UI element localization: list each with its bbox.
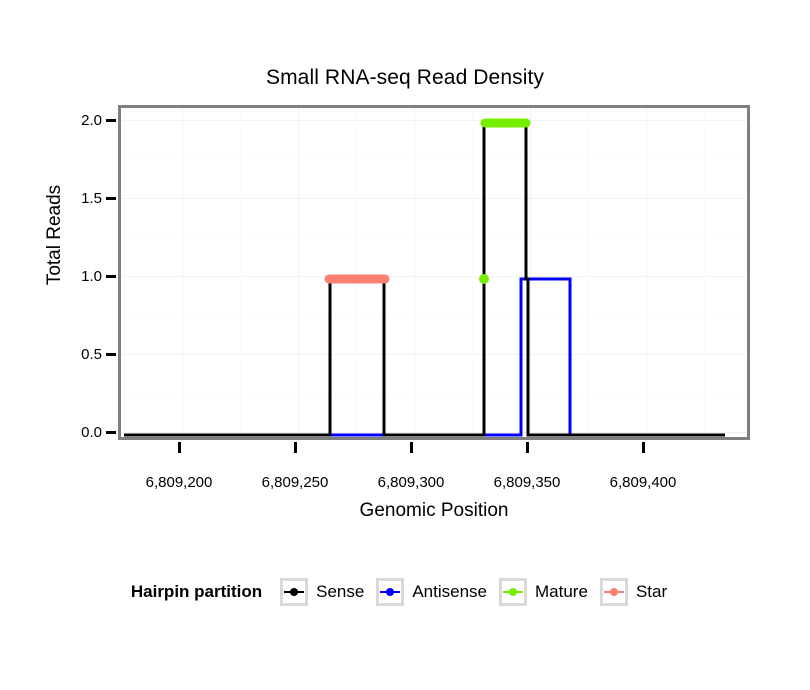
x-tick-mark-6809200 [178, 442, 181, 453]
y-tick-mark-2 [106, 119, 116, 122]
legend-key-antisense [376, 578, 404, 606]
x-tick-mark-6809400 [642, 442, 645, 453]
x-axis-title: Genomic Position [118, 500, 750, 522]
series-sense [124, 123, 725, 435]
y-tick-mark-1p5 [106, 197, 116, 200]
legend-point-icon [509, 588, 517, 596]
plot-panel [118, 105, 750, 440]
y-tick-label-1: 1.0 [0, 268, 102, 285]
legend-key-star [600, 578, 628, 606]
series-antisense [330, 279, 586, 435]
y-tick-label-2: 2.0 [0, 112, 102, 129]
x-tick-mark-6809350 [526, 442, 529, 453]
y-tick-mark-1 [106, 275, 116, 278]
x-tick-mark-6809250 [294, 442, 297, 453]
legend-item-star[interactable]: Star [600, 578, 667, 606]
legend-point-icon [386, 588, 394, 596]
y-tick-mark-0p5 [106, 353, 116, 356]
chart-figure: Small RNA-seq Read Density Total Reads 2… [0, 0, 810, 690]
y-tick-label-0p5: 0.5 [0, 346, 102, 363]
series-mature-point [479, 274, 489, 284]
legend-label-star: Star [636, 582, 667, 602]
y-axis-title: Total Reads [44, 135, 66, 335]
x-tick-mark-6809300 [410, 442, 413, 453]
legend-item-antisense[interactable]: Antisense [376, 578, 487, 606]
y-tick-mark-0 [106, 431, 116, 434]
legend-item-sense[interactable]: Sense [280, 578, 364, 606]
legend-point-icon [610, 588, 618, 596]
legend-title: Hairpin partition [131, 582, 262, 602]
legend-label-sense: Sense [316, 582, 364, 602]
legend: Hairpin partition Sense Antisense Mature [0, 578, 810, 606]
series-canvas [121, 108, 747, 437]
plot-area [121, 108, 747, 437]
legend-label-mature: Mature [535, 582, 588, 602]
legend-point-icon [290, 588, 298, 596]
legend-key-mature [499, 578, 527, 606]
legend-key-sense [280, 578, 308, 606]
legend-label-antisense: Antisense [412, 582, 487, 602]
y-tick-label-1p5: 1.5 [0, 190, 102, 207]
legend-item-mature[interactable]: Mature [499, 578, 588, 606]
y-tick-label-0: 0.0 [0, 424, 102, 441]
chart-title: Small RNA-seq Read Density [0, 66, 810, 90]
x-tick-label-6809400: 6,809,400 [573, 474, 713, 491]
